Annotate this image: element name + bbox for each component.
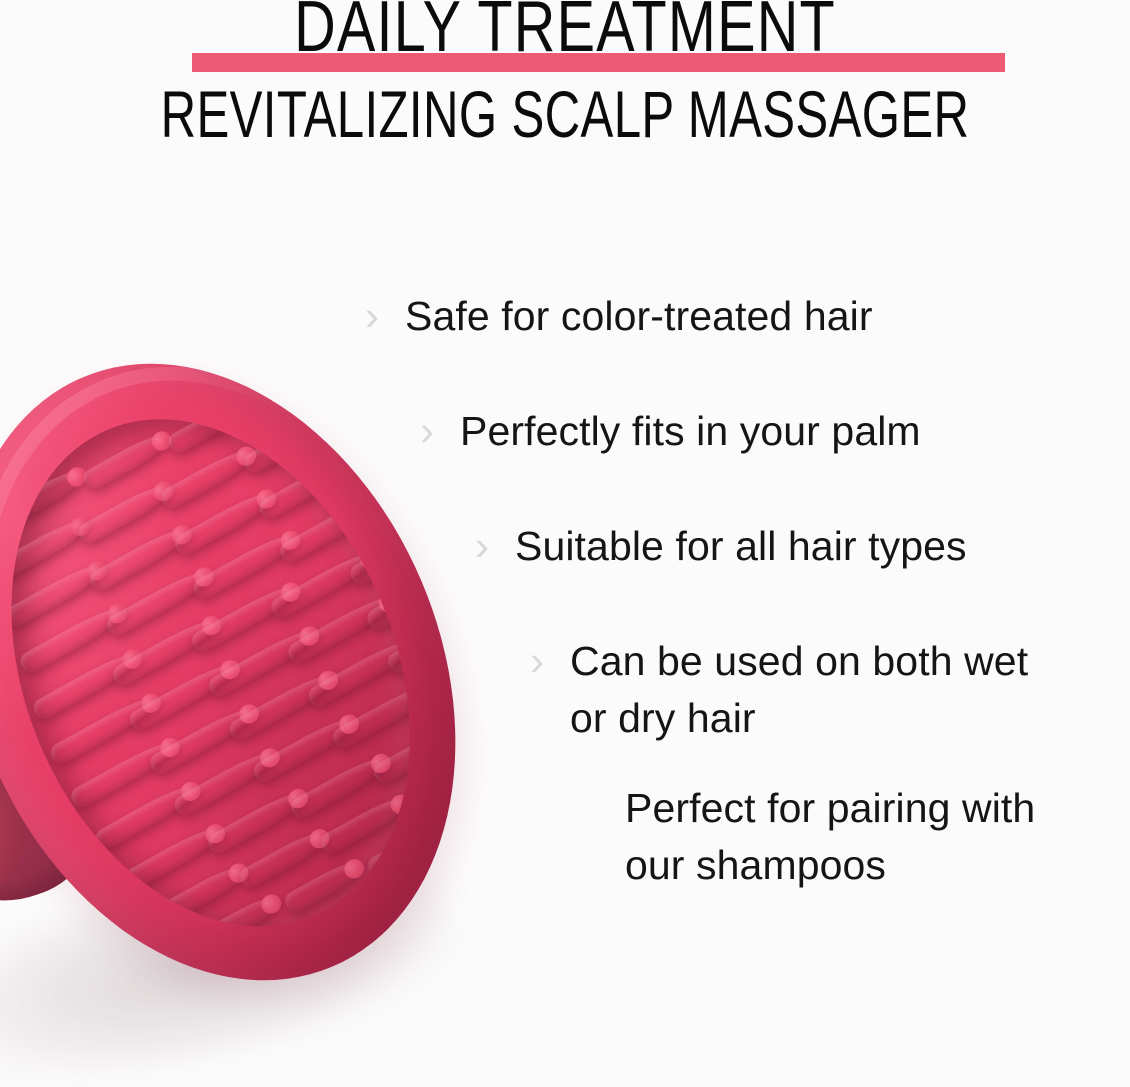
feature-item-label: Perfect for pairing with our shampoos: [625, 780, 1035, 894]
page-subtitle: REVITALIZING SCALP MASSAGER: [144, 79, 986, 149]
feature-item: ›Safe for color-treated hair: [0, 288, 1130, 346]
chevron-right-icon: ›: [420, 403, 434, 459]
feature-item: ›Can be used on both wet or dry hair: [0, 633, 1130, 691]
header: DAILY TREATMENT REVITALIZING SCALP MASSA…: [0, 0, 1130, 150]
feature-item-label: Safe for color-treated hair: [405, 288, 873, 345]
feature-item-label: Suitable for all hair types: [515, 518, 967, 575]
feature-item: Perfect for pairing with our shampoos: [0, 780, 1130, 838]
chevron-right-icon: ›: [475, 518, 489, 574]
feature-item: ›Perfectly fits in your palm: [0, 403, 1130, 461]
feature-item: ›Suitable for all hair types: [0, 518, 1130, 576]
chevron-right-icon: ›: [365, 288, 379, 344]
page-title: DAILY TREATMENT: [113, 0, 1017, 66]
chevron-right-icon: ›: [530, 633, 544, 689]
promo-image: DAILY TREATMENT REVITALIZING SCALP MASSA…: [0, 0, 1130, 1087]
feature-item-label: Can be used on both wet or dry hair: [570, 633, 1028, 747]
feature-item-label: Perfectly fits in your palm: [460, 403, 921, 460]
